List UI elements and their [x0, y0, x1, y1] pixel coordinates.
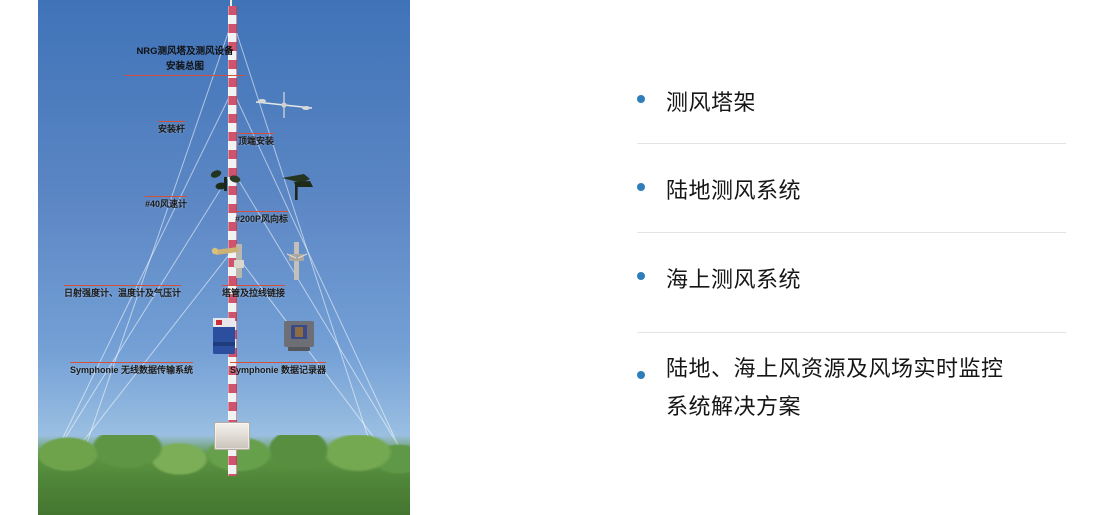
- label-anemometer-text: #40风速计: [145, 199, 187, 209]
- photo-title-line2: 安装总图: [125, 59, 245, 76]
- wireless-transmitter-icon: [210, 316, 238, 356]
- bullet-dot-icon: [637, 183, 645, 191]
- photo-title: NRG测风塔及测风设备 安装总图: [125, 44, 245, 76]
- label-wireless-transmitter: Symphonie 无线数据传输系统: [70, 362, 193, 377]
- list-item-label: 海上测风系统: [666, 262, 801, 300]
- label-pyranometer-temp-baro-text: 日射强度计、温度计及气压计: [64, 288, 181, 298]
- bullet-dot-icon: [637, 371, 645, 379]
- wind-vane-icon: [280, 172, 318, 202]
- data-logger-icon: [282, 318, 316, 352]
- label-mast-guy-connection: 塔管及拉线链接: [222, 285, 285, 300]
- label-data-logger: Symphonie 数据记录器: [230, 362, 326, 377]
- label-wind-vane: #200P风向标: [235, 211, 288, 226]
- bullet-dot-icon: [637, 95, 645, 103]
- photo-title-line1: NRG测风塔及测风设备: [136, 46, 233, 57]
- label-mast-guy-connection-text: 塔管及拉线链接: [222, 288, 285, 298]
- label-mounting-boom: 安装杆: [158, 121, 185, 136]
- label-top-mount-text: 顶端安装: [238, 136, 274, 146]
- label-top-mount: 顶端安装: [238, 133, 274, 148]
- list-item-label: 陆地、海上风资源及风场实时监控 系统解决方案: [666, 351, 1004, 427]
- label-anemometer: #40风速计: [145, 196, 187, 211]
- list-item[interactable]: 海上测风系统: [637, 262, 801, 300]
- pyranometer-boom-icon: [210, 238, 252, 282]
- list-divider: [637, 143, 1066, 144]
- list-item-label: 陆地测风系统: [666, 173, 801, 211]
- top-mount-sensor-icon: [254, 88, 314, 122]
- label-pyranometer-temp-baro: 日射强度计、温度计及气压计: [64, 285, 181, 300]
- label-data-logger-text: Symphonie 数据记录器: [230, 365, 326, 375]
- mast-guy-connection-icon: [284, 240, 310, 282]
- list-item[interactable]: 陆地测风系统: [637, 173, 801, 211]
- feature-list: 测风塔架 陆地测风系统 海上测风系统 陆地、海上风资源及风场实时监控 系统解决方…: [612, 0, 1082, 515]
- list-item[interactable]: 测风塔架: [637, 85, 756, 123]
- bullet-dot-icon: [637, 272, 645, 280]
- list-item-label: 测风塔架: [666, 85, 756, 123]
- list-item[interactable]: 陆地、海上风资源及风场实时监控 系统解决方案: [637, 351, 1004, 427]
- label-wind-vane-text: #200P风向标: [235, 214, 288, 224]
- list-divider: [637, 332, 1066, 333]
- label-mounting-boom-text: 安装杆: [158, 124, 185, 134]
- equipment-enclosure: [214, 422, 250, 450]
- label-wireless-transmitter-text: Symphonie 无线数据传输系统: [70, 365, 193, 375]
- list-divider: [637, 232, 1066, 233]
- anemometer-icon: [208, 168, 244, 196]
- met-mast-photo: NRG测风塔及测风设备 安装总图 安装杆 顶端安装 #40风速计 #200P风向…: [38, 0, 410, 515]
